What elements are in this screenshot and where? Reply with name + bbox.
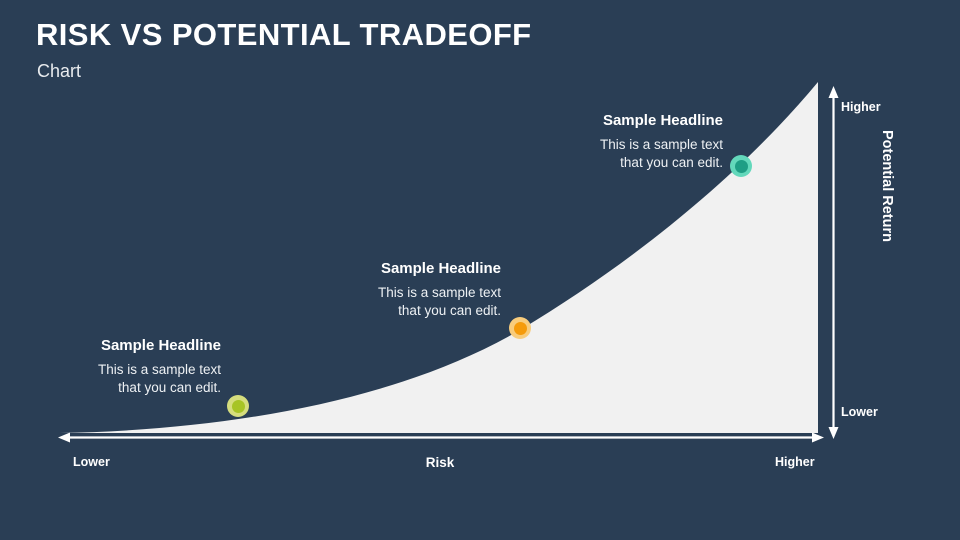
y-axis-arrow [829, 86, 839, 439]
x-axis-arrow [58, 433, 824, 443]
slide-canvas: RISK VS POTENTIAL TRADEOFF Chart Sample … [0, 0, 960, 540]
y-axis-label-higher: Higher [841, 100, 881, 114]
x-axis-title: Risk [0, 455, 880, 470]
chart-plot-area: Sample Headline This is a sample text th… [0, 0, 960, 540]
y-axis-title: Potential Return [879, 106, 895, 266]
x-axis-label-higher: Higher [775, 455, 815, 469]
y-axis-label-lower: Lower [841, 405, 878, 419]
